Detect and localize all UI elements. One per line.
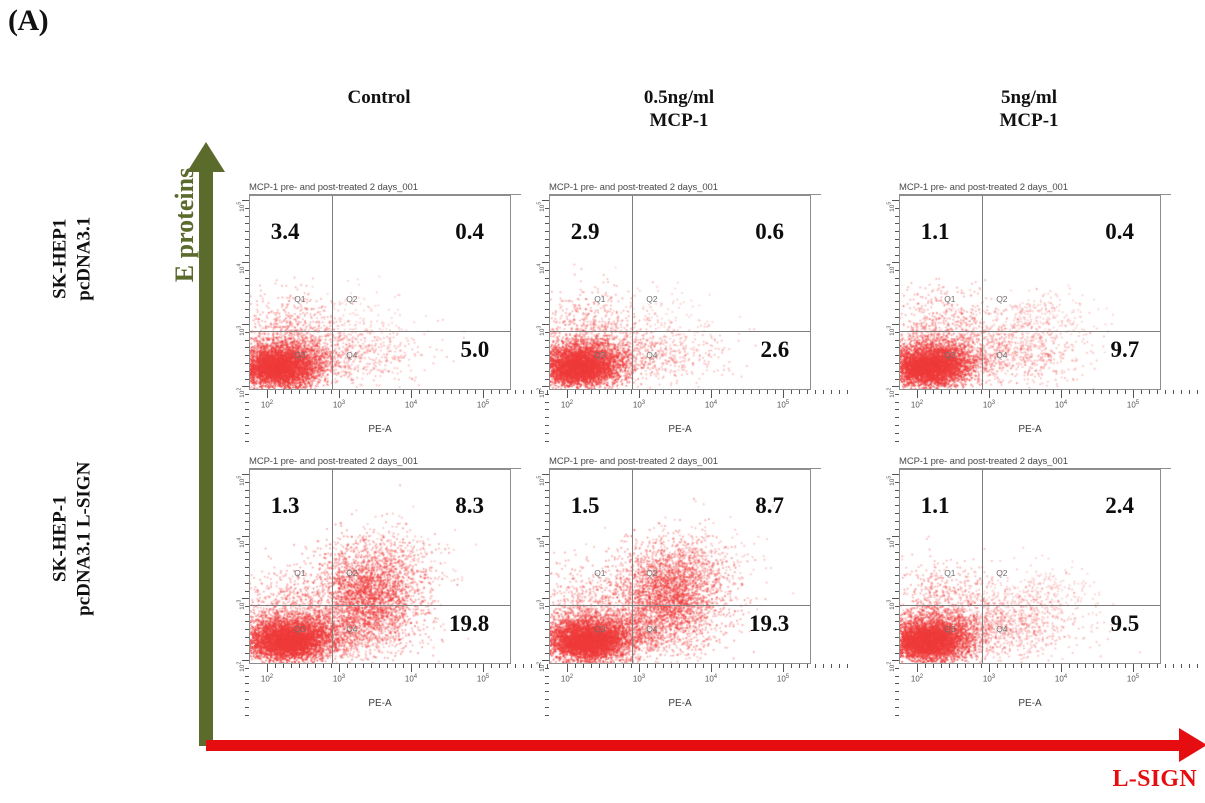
flow-plot-quadrant-value-q1: 1.1	[921, 493, 950, 519]
flow-plot-y-tick-label: 104	[236, 538, 245, 548]
row-label-line1: SK-HEP-1	[49, 495, 70, 582]
flow-plot-x-axis: 102103104105	[249, 390, 511, 398]
flow-plot-quadrant-value-q2: 2.4	[1105, 493, 1134, 519]
flow-plot-y-axis: 105104103102	[542, 469, 549, 664]
flow-plot-title: MCP-1 pre- and post-treated 2 days_001	[549, 182, 821, 195]
flow-plot-x-tick-label: 103	[333, 400, 345, 410]
flow-plot-quadrant-value-q1: 1.5	[571, 493, 600, 519]
flow-plot-x-tick-label: 103	[983, 400, 995, 410]
flow-plot-quadrant-vertical-divider	[632, 196, 633, 389]
flow-plot-y-tick-label: 102	[886, 388, 895, 398]
column-header-control: Control	[249, 86, 509, 109]
flow-plot-frame: Q1Q2Q3Q43.40.45.0	[249, 195, 511, 390]
flow-plot-x-tick-label: 104	[705, 674, 717, 684]
flow-plot-x-tick-label: 102	[911, 400, 923, 410]
flow-plot-frame: Q1Q2Q3Q41.38.319.8	[249, 469, 511, 664]
flow-plot-quadrant-horizontal-divider	[550, 605, 810, 606]
flow-plot-quadrant-tag-q2: Q2	[346, 294, 357, 304]
flow-plot-quadrant-value-q1: 1.1	[921, 219, 950, 245]
flow-plot-quadrant-value-q2: 0.6	[755, 219, 784, 245]
flow-plot-quadrant-tag-q1: Q1	[594, 568, 605, 578]
l-sign-axis-label: L-SIGN	[1113, 766, 1198, 793]
flow-plot-quadrant-value-q2: 0.4	[1105, 219, 1134, 245]
flow-plot-quadrant-tag-q4: Q4	[346, 350, 357, 360]
flow-plot-x-tick-label: 102	[561, 400, 573, 410]
flow-plot-y-tick-label: 102	[536, 662, 545, 672]
flow-plot-y-tick-label: 105	[536, 202, 545, 212]
flow-plot-quadrant-value-q4: 9.5	[1110, 611, 1139, 637]
flow-plot-y-tick-label: 105	[236, 202, 245, 212]
flow-plot-quadrant-value-q2: 8.7	[755, 493, 784, 519]
flow-panel-r0c2: MCP-1 pre- and post-treated 2 days_001Al…	[880, 178, 1180, 448]
flow-plot-quadrant-horizontal-divider	[900, 605, 1160, 606]
row-label-line2: pcDNA3.1 L-SIGN	[72, 429, 96, 649]
flow-plot-x-tick-label: 103	[633, 400, 645, 410]
flow-plot-y-tick-label: 104	[536, 538, 545, 548]
flow-plot-quadrant-tag-q3: Q3	[944, 624, 955, 634]
flow-plot-quadrant-value-q4: 19.3	[749, 611, 789, 637]
flow-plot-y-tick-label: 104	[236, 264, 245, 274]
flow-plot-quadrant-vertical-divider	[632, 470, 633, 663]
flow-plot-x-tick-label: 104	[1055, 400, 1067, 410]
flow-plot-x-tick-label: 103	[333, 674, 345, 684]
flow-plot-y-tick-label: 105	[236, 476, 245, 486]
flow-plot-quadrant-value-q4: 5.0	[460, 337, 489, 363]
flow-plot-quadrant-tag-q1: Q1	[294, 568, 305, 578]
flow-plot-x-tick-label: 104	[705, 400, 717, 410]
flow-plot-quadrant-tag-q2: Q2	[646, 568, 657, 578]
flow-plot-x-tick-label: 103	[983, 674, 995, 684]
flow-plot-x-axis-label: PE-A	[899, 424, 1161, 435]
flow-plot-title: MCP-1 pre- and post-treated 2 days_001	[249, 182, 521, 195]
flow-plot-quadrant-tag-q1: Q1	[944, 294, 955, 304]
flow-plot-x-tick-label: 105	[1127, 400, 1139, 410]
row-label-line1: SK-HEP1	[49, 219, 70, 299]
flow-plot-quadrant-tag-q3: Q3	[594, 624, 605, 634]
flow-plot-quadrant-horizontal-divider	[250, 331, 510, 332]
flow-plot-x-axis: 102103104105	[549, 390, 811, 398]
flow-plot-quadrant-horizontal-divider	[250, 605, 510, 606]
flow-plot-quadrant-tag-q4: Q4	[996, 350, 1007, 360]
flow-plot-quadrant-tag-q4: Q4	[646, 624, 657, 634]
flow-plot-quadrant-tag-q1: Q1	[294, 294, 305, 304]
flow-plot-quadrant-value-q1: 1.3	[271, 493, 300, 519]
flow-plot-x-axis: 102103104105	[899, 390, 1161, 398]
flow-plot-y-tick-label: 103	[236, 326, 245, 336]
flow-plot-quadrant-value-q4: 19.8	[449, 611, 489, 637]
flow-plot-quadrant-tag-q3: Q3	[294, 624, 305, 634]
flow-plot-quadrant-tag-q3: Q3	[594, 350, 605, 360]
flow-panel-r1c1: MCP-1 pre- and post-treated 2 days_001Al…	[530, 452, 830, 722]
flow-plot-quadrant-tag-q2: Q2	[346, 568, 357, 578]
flow-plot-quadrant-tag-q2: Q2	[646, 294, 657, 304]
flow-plot-x-tick-label: 102	[911, 674, 923, 684]
flow-plot-quadrant-value-q4: 2.6	[760, 337, 789, 363]
flow-plot-y-tick-label: 103	[886, 326, 895, 336]
column-header-line2: MCP-1	[549, 109, 809, 132]
flow-plot-quadrant-horizontal-divider	[550, 331, 810, 332]
flow-plot-quadrant-tag-q4: Q4	[646, 350, 657, 360]
flow-plot-y-axis: 105104103102	[542, 195, 549, 390]
flow-plot-quadrant-value-q1: 3.4	[271, 219, 300, 245]
flow-plot-title: MCP-1 pre- and post-treated 2 days_001	[549, 456, 821, 469]
flow-plot-frame: Q1Q2Q3Q42.90.62.6	[549, 195, 811, 390]
column-header-line1: Control	[348, 87, 411, 108]
e-proteins-axis-arrow	[199, 168, 213, 746]
flow-plot-frame: Q1Q2Q3Q41.58.719.3	[549, 469, 811, 664]
flow-panel-r0c1: MCP-1 pre- and post-treated 2 days_001Al…	[530, 178, 830, 448]
flow-plot-quadrant-tag-q3: Q3	[294, 350, 305, 360]
flow-plot-x-tick-label: 104	[405, 400, 417, 410]
e-proteins-axis-label: E proteins	[170, 135, 200, 315]
flow-plot-y-axis: 105104103102	[892, 195, 899, 390]
flow-plot-y-tick-label: 105	[536, 476, 545, 486]
flow-plot-y-tick-label: 104	[536, 264, 545, 274]
flow-plot-quadrant-horizontal-divider	[900, 331, 1160, 332]
column-header-line1: 5ng/ml	[1001, 87, 1057, 108]
flow-plot-y-tick-label: 102	[236, 388, 245, 398]
row-label-line2: pcDNA3.1	[72, 149, 96, 369]
flow-plot-quadrant-tag-q1: Q1	[944, 568, 955, 578]
flow-plot-quadrant-tag-q4: Q4	[346, 624, 357, 634]
flow-plot-x-axis: 102103104105	[249, 664, 511, 672]
flow-plot-x-tick-label: 104	[405, 674, 417, 684]
flow-plot-y-tick-label: 102	[886, 662, 895, 672]
flow-plot-x-tick-label: 105	[1127, 674, 1139, 684]
flow-plot-quadrant-vertical-divider	[332, 196, 333, 389]
flow-plot-quadrant-tag-q1: Q1	[594, 294, 605, 304]
flow-plot-y-tick-label: 104	[886, 538, 895, 548]
flow-plot-y-tick-label: 103	[236, 600, 245, 610]
flow-plot-quadrant-tag-q2: Q2	[996, 568, 1007, 578]
flow-plot-title: MCP-1 pre- and post-treated 2 days_001	[899, 456, 1171, 469]
flow-plot-quadrant-vertical-divider	[332, 470, 333, 663]
flow-panel-r0c0: MCP-1 pre- and post-treated 2 days_001Al…	[230, 178, 530, 448]
flow-plot-x-axis-label: PE-A	[899, 698, 1161, 709]
flow-plot-x-axis-label: PE-A	[249, 424, 511, 435]
flow-plot-quadrant-tag-q3: Q3	[944, 350, 955, 360]
column-header-mcp1-low: 0.5ng/ml MCP-1	[549, 86, 809, 132]
flow-plot-y-tick-label: 103	[886, 600, 895, 610]
flow-panel-r1c2: MCP-1 pre- and post-treated 2 days_001Al…	[880, 452, 1180, 722]
flow-plot-x-axis-label: PE-A	[549, 698, 811, 709]
flow-plot-quadrant-value-q2: 8.3	[455, 493, 484, 519]
flow-plot-y-tick-label: 103	[536, 326, 545, 336]
flow-plot-x-tick-label: 103	[633, 674, 645, 684]
flow-plot-x-tick-label: 105	[477, 674, 489, 684]
flow-plot-quadrant-vertical-divider	[982, 196, 983, 389]
row-label-sk-hep1-lsign: SK-HEP-1 pcDNA3.1 L-SIGN	[48, 429, 96, 649]
flow-plot-y-axis: 105104103102	[892, 469, 899, 664]
panel-letter: (A)	[8, 4, 48, 38]
column-header-line2: MCP-1	[899, 109, 1159, 132]
flow-plot-quadrant-value-q2: 0.4	[455, 219, 484, 245]
flow-plot-y-tick-label: 105	[886, 202, 895, 212]
flow-plot-x-axis-label: PE-A	[549, 424, 811, 435]
flow-plot-quadrant-tag-q2: Q2	[996, 294, 1007, 304]
column-header-line1: 0.5ng/ml	[644, 87, 714, 108]
flow-plot-title: MCP-1 pre- and post-treated 2 days_001	[249, 456, 521, 469]
flow-plot-y-tick-label: 104	[886, 264, 895, 274]
flow-plot-y-tick-label: 102	[236, 662, 245, 672]
flow-plot-y-tick-label: 105	[886, 476, 895, 486]
flow-plot-x-axis-label: PE-A	[249, 698, 511, 709]
flow-plot-title: MCP-1 pre- and post-treated 2 days_001	[899, 182, 1171, 195]
flow-plot-quadrant-value-q4: 9.7	[1110, 337, 1139, 363]
flow-plot-x-tick-label: 102	[261, 400, 273, 410]
row-label-sk-hep1-pcdna31: SK-HEP1 pcDNA3.1	[48, 149, 96, 369]
l-sign-axis-arrow	[206, 740, 1181, 751]
column-header-mcp1-high: 5ng/ml MCP-1	[899, 86, 1159, 132]
flow-plot-y-axis: 105104103102	[242, 469, 249, 664]
flow-plot-x-tick-label: 105	[777, 400, 789, 410]
flow-plot-x-tick-label: 105	[477, 400, 489, 410]
flow-plot-frame: Q1Q2Q3Q41.12.49.5	[899, 469, 1161, 664]
flow-plot-x-axis: 102103104105	[549, 664, 811, 672]
flow-plot-x-tick-label: 102	[561, 674, 573, 684]
flow-plot-quadrant-tag-q4: Q4	[996, 624, 1007, 634]
flow-plot-y-tick-label: 103	[536, 600, 545, 610]
flow-plot-y-axis: 105104103102	[242, 195, 249, 390]
flow-plot-quadrant-value-q1: 2.9	[571, 219, 600, 245]
flow-plot-x-tick-label: 105	[777, 674, 789, 684]
flow-plot-x-tick-label: 104	[1055, 674, 1067, 684]
flow-panel-r1c0: MCP-1 pre- and post-treated 2 days_001Al…	[230, 452, 530, 722]
flow-plot-quadrant-vertical-divider	[982, 470, 983, 663]
flow-plot-x-axis: 102103104105	[899, 664, 1161, 672]
flow-plot-frame: Q1Q2Q3Q41.10.49.7	[899, 195, 1161, 390]
flow-plot-x-tick-label: 102	[261, 674, 273, 684]
flow-plot-y-tick-label: 102	[536, 388, 545, 398]
